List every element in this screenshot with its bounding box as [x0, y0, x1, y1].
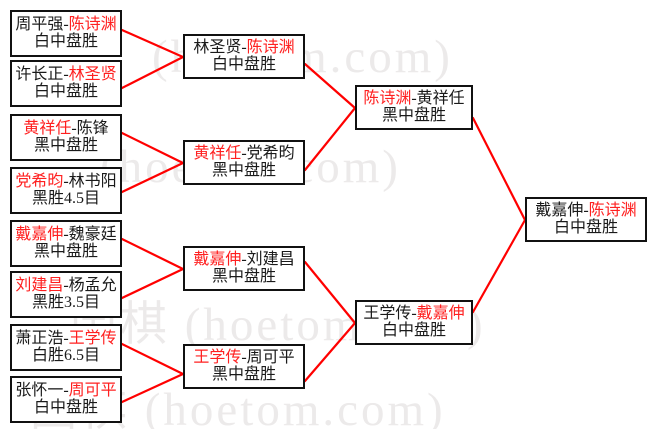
connector-r1m5-r2m3 — [122, 239, 183, 269]
connector-r1m1-r2m1 — [122, 30, 183, 57]
player-right: 陈诗渊 — [589, 202, 637, 219]
match-result: 黑胜3.5目 — [32, 295, 100, 312]
player-right: 杨孟允 — [69, 277, 117, 294]
connector-r2m3-r3m2 — [305, 262, 355, 323]
player-left: 许长正 — [15, 66, 63, 83]
connector-r1m3-r2m2 — [122, 133, 183, 163]
match-result: 黑中盘胜 — [34, 244, 98, 261]
player-right: 戴嘉伸 — [417, 305, 465, 322]
match-result: 白中盘胜 — [34, 34, 98, 51]
player-right: 刘建昌 — [247, 251, 295, 268]
player-right: 周可平 — [247, 349, 295, 366]
match-box-r2m4[interactable]: 王学传-周可平 黑中盘胜 — [183, 344, 305, 389]
player-right: 黄祥任 — [417, 90, 465, 107]
player-left: 黄祥任 — [193, 145, 241, 162]
match-box-semifinal-2[interactable]: 王学传-戴嘉伸 白中盘胜 — [355, 300, 473, 345]
match-players: 王学传-戴嘉伸 — [363, 306, 464, 323]
match-players: 戴嘉伸-刘建昌 — [193, 252, 294, 269]
connector-r1m6-r2m3 — [122, 269, 183, 298]
match-result: 白中盘胜 — [34, 84, 98, 101]
match-players: 戴嘉伸-魏豪廷 — [15, 227, 116, 244]
player-left: 王学传 — [363, 305, 411, 322]
match-box-r1m4[interactable]: 党希昀-林书阳 黑胜4.5目 — [10, 167, 122, 214]
match-result: 黑中盘胜 — [212, 367, 276, 384]
match-box-semifinal-1[interactable]: 陈诗渊-黄祥任 黑中盘胜 — [355, 85, 473, 130]
connector-r1m8-r2m4 — [122, 374, 183, 402]
match-players: 黄祥任-陈锋 — [23, 121, 108, 138]
player-left: 党希昀 — [15, 173, 63, 190]
connector-r3m1-final — [473, 118, 525, 220]
match-box-r1m5[interactable]: 戴嘉伸-魏豪廷 黑中盘胜 — [10, 220, 122, 267]
player-right: 王学传 — [69, 330, 117, 347]
player-right: 陈锋 — [77, 120, 109, 137]
match-box-r2m1[interactable]: 林圣贤-陈诗渊 白中盘胜 — [183, 34, 305, 79]
match-players: 林圣贤-陈诗渊 — [193, 40, 294, 57]
player-right: 魏豪廷 — [69, 226, 117, 243]
match-players: 戴嘉伸-陈诗渊 — [535, 203, 636, 220]
match-players: 党希昀-林书阳 — [15, 174, 116, 191]
player-left: 戴嘉伸 — [193, 251, 241, 268]
player-left: 萧正浩 — [15, 330, 63, 347]
match-box-r1m3[interactable]: 黄祥任-陈锋 黑中盘胜 — [10, 114, 122, 161]
player-left: 陈诗渊 — [363, 90, 411, 107]
player-right: 陈诗渊 — [69, 16, 117, 33]
match-box-r1m6[interactable]: 刘建昌-杨孟允 黑胜3.5目 — [10, 271, 122, 318]
player-left: 戴嘉伸 — [535, 202, 583, 219]
match-box-r2m3[interactable]: 戴嘉伸-刘建昌 黑中盘胜 — [183, 246, 305, 291]
match-result: 白中盘胜 — [382, 323, 446, 340]
player-left: 戴嘉伸 — [15, 226, 63, 243]
match-players: 王学传-周可平 — [193, 350, 294, 367]
connector-r1m4-r2m2 — [122, 163, 183, 192]
player-right: 林书阳 — [69, 173, 117, 190]
match-result: 黑中盘胜 — [212, 269, 276, 286]
connector-r2m4-r3m2 — [305, 323, 355, 381]
match-box-r1m7[interactable]: 萧正浩-王学传 白胜6.5目 — [10, 324, 122, 371]
match-box-r2m2[interactable]: 黄祥任-党希昀 黑中盘胜 — [183, 140, 305, 185]
player-left: 林圣贤 — [193, 39, 241, 56]
match-result: 黑胜4.5目 — [32, 191, 100, 208]
connector-r1m7-r2m4 — [122, 344, 183, 374]
match-result: 白中盘胜 — [212, 57, 276, 74]
match-players: 黄祥任-党希昀 — [193, 146, 294, 163]
connector-r2m1-r3m1 — [305, 64, 355, 108]
player-left: 周平强 — [15, 16, 63, 33]
match-box-r1m2[interactable]: 许长正-林圣贤 白中盘胜 — [10, 60, 122, 107]
connector-r3m2-final — [473, 220, 525, 312]
connector-r1m2-r2m1 — [122, 57, 183, 88]
match-players: 陈诗渊-黄祥任 — [363, 91, 464, 108]
match-players: 萧正浩-王学传 — [15, 331, 116, 348]
match-result: 白中盘胜 — [34, 400, 98, 417]
player-left: 张怀一 — [15, 382, 63, 399]
match-result: 黑中盘胜 — [382, 108, 446, 125]
player-left: 黄祥任 — [23, 120, 71, 137]
connector-r2m2-r3m1 — [305, 108, 355, 170]
match-result: 黑中盘胜 — [34, 138, 98, 155]
match-players: 许长正-林圣贤 — [15, 67, 116, 84]
player-left: 刘建昌 — [15, 277, 63, 294]
player-right: 党希昀 — [247, 145, 295, 162]
tournament-bracket: (hoetom.com) (hoetom.com) 围棋 (hoetom.com… — [0, 0, 658, 429]
player-right: 陈诗渊 — [247, 39, 295, 56]
match-players: 张怀一-周可平 — [15, 383, 116, 400]
player-left: 王学传 — [193, 349, 241, 366]
player-right: 周可平 — [69, 382, 117, 399]
match-result: 白中盘胜 — [554, 220, 618, 237]
match-result: 黑中盘胜 — [212, 163, 276, 180]
match-box-final[interactable]: 戴嘉伸-陈诗渊 白中盘胜 — [525, 197, 647, 242]
match-players: 刘建昌-杨孟允 — [15, 278, 116, 295]
match-result: 白胜6.5目 — [32, 348, 100, 365]
match-players: 周平强-陈诗渊 — [15, 17, 116, 34]
match-box-r1m8[interactable]: 张怀一-周可平 白中盘胜 — [10, 376, 122, 423]
match-box-r1m1[interactable]: 周平强-陈诗渊 白中盘胜 — [10, 10, 122, 57]
player-right: 林圣贤 — [69, 66, 117, 83]
